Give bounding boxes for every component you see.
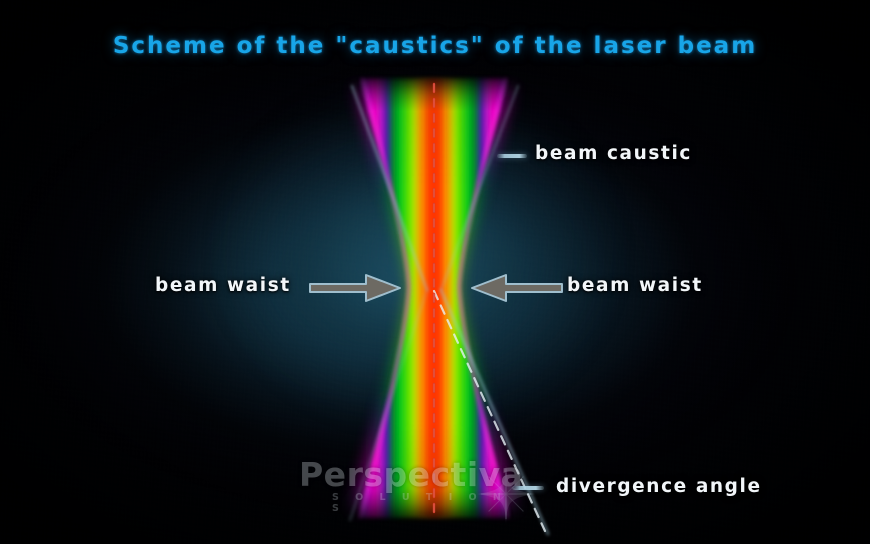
laser-beam-graphic: [0, 0, 870, 544]
diagram-canvas: Scheme of the "caustics" of the laser be…: [0, 0, 870, 544]
label-beam-waist-right: beam waist: [567, 275, 703, 296]
label-beam-caustic: beam caustic: [535, 143, 692, 164]
leader-line-beam-caustic: [497, 154, 527, 158]
arrow-right-pointing-icon: [308, 272, 404, 308]
label-beam-waist-left: beam waist: [155, 275, 291, 296]
beam-svg: [0, 0, 870, 544]
label-divergence-angle: divergence angle: [556, 476, 762, 497]
leader-line-divergence-angle: [512, 486, 544, 490]
page-title: Scheme of the "caustics" of the laser be…: [0, 33, 870, 59]
arrow-left-pointing-icon: [468, 272, 564, 308]
